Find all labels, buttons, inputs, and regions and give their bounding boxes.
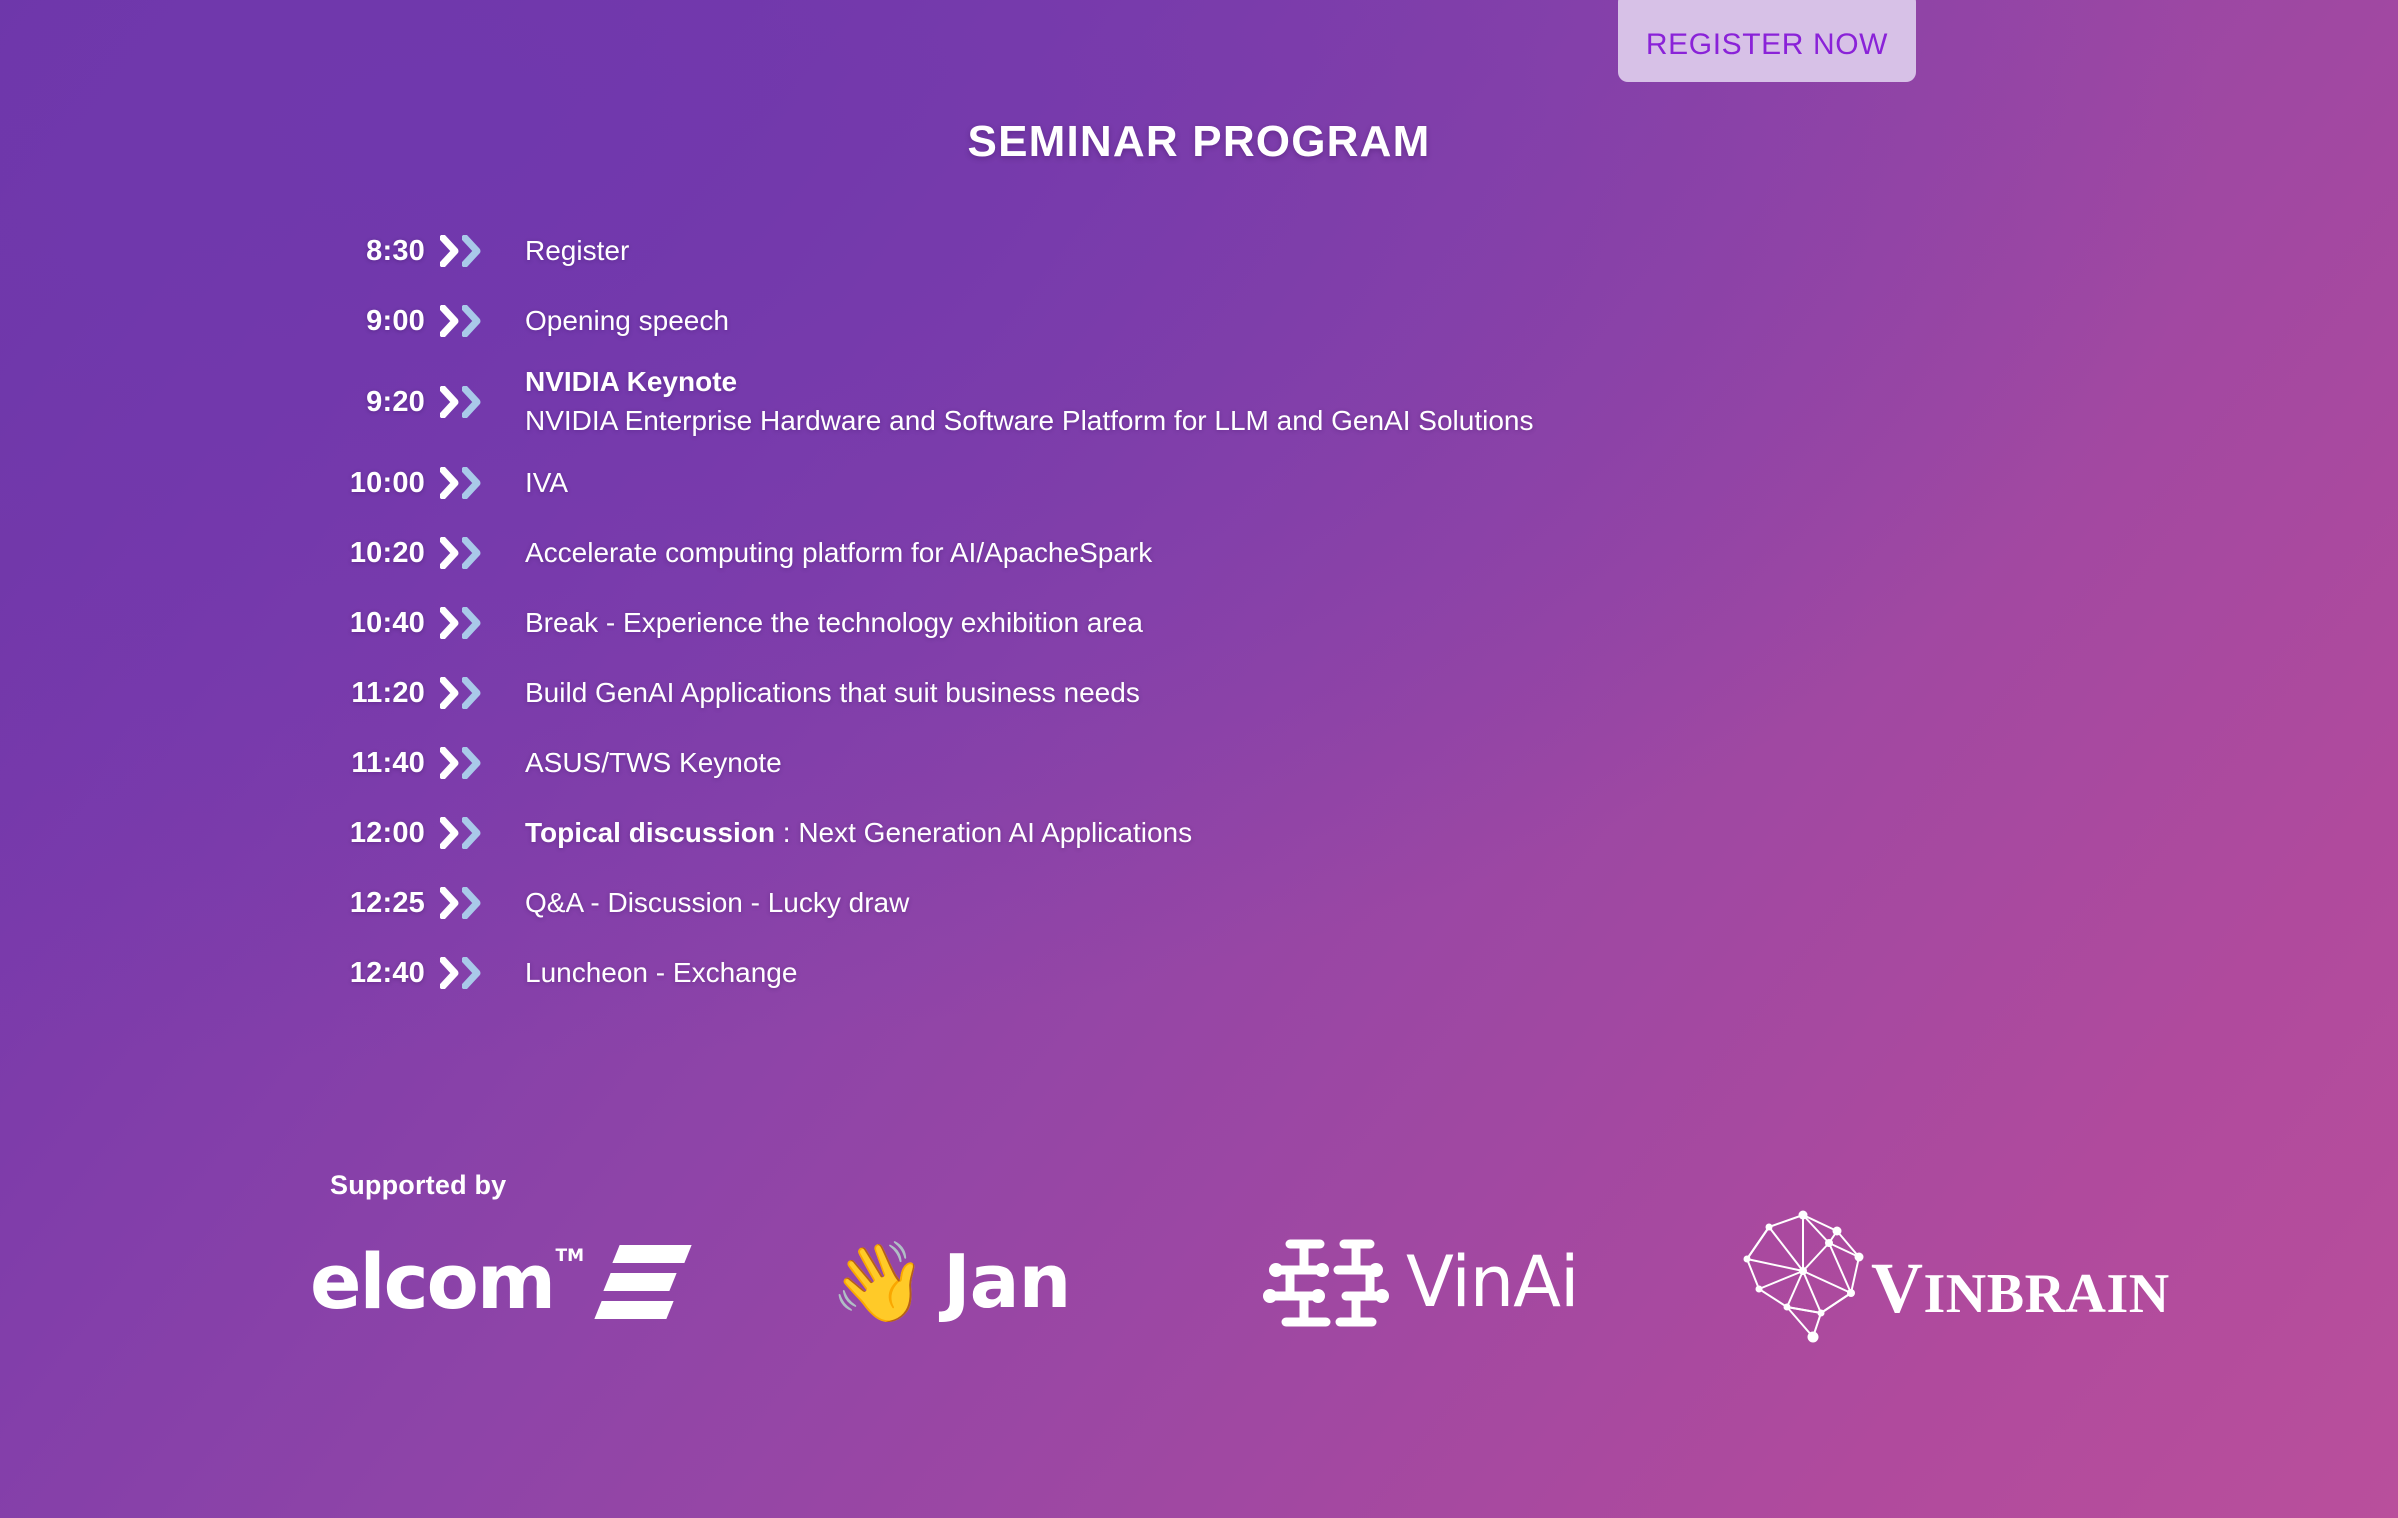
schedule-time: 12:00 <box>0 817 425 850</box>
elcom-wordmark: elcomTM <box>310 1244 554 1320</box>
schedule-item-subtitle: NVIDIA Enterprise Hardware and Software … <box>525 402 2398 441</box>
schedule-item-text: Accelerate computing platform for AI/Apa… <box>525 534 2398 573</box>
waving-hand-icon: 👋 <box>830 1243 927 1321</box>
register-now-button[interactable]: REGISTER NOW <box>1618 0 1916 82</box>
schedule-item-lead: Topical discussion <box>525 817 775 848</box>
double-chevron-right-icon <box>425 607 525 639</box>
double-chevron-right-icon <box>425 386 525 418</box>
schedule-time: 11:20 <box>0 677 425 710</box>
schedule-row: 12:40 Luncheon - Exchange <box>0 938 2398 1008</box>
double-chevron-right-icon <box>425 305 525 337</box>
schedule-time: 10:20 <box>0 537 425 570</box>
sponsor-logo-vinai[interactable]: VinAi <box>1260 1222 1579 1342</box>
schedule-item-text: IVA <box>525 464 2398 503</box>
schedule-row: 11:20 Build GenAI Applications that suit… <box>0 658 2398 728</box>
double-chevron-right-icon <box>425 957 525 989</box>
vinai-circuit-icon <box>1260 1226 1392 1338</box>
schedule-time: 12:40 <box>0 957 425 990</box>
schedule-item-rest: : Next Generation AI Applications <box>775 817 1192 848</box>
schedule-item-text: Q&A - Discussion - Lucky draw <box>525 884 2398 923</box>
schedule-time: 8:30 <box>0 235 425 268</box>
schedule-item-text: Register <box>525 232 2398 271</box>
sponsor-logo-row: elcomTM 👋 Jan <box>300 1222 2200 1362</box>
schedule-time: 10:00 <box>0 467 425 500</box>
vinbrain-word-rest: INBRAIN <box>1924 1263 2170 1325</box>
schedule-time: 12:25 <box>0 887 425 920</box>
schedule-item-text: ASUS/TWS Keynote <box>525 744 2398 783</box>
schedule-item-text: Build GenAI Applications that suit busin… <box>525 674 2398 713</box>
supported-by-label: Supported by <box>330 1170 506 1201</box>
double-chevron-right-icon <box>425 677 525 709</box>
double-chevron-right-icon <box>425 467 525 499</box>
double-chevron-right-icon <box>425 747 525 779</box>
schedule-item-text: NVIDIA Keynote NVIDIA Enterprise Hardwar… <box>525 363 2398 440</box>
elcom-e-mark-icon <box>598 1245 684 1319</box>
schedule-item-title: NVIDIA Keynote <box>525 363 2398 402</box>
schedule-row: 10:00 IVA <box>0 448 2398 518</box>
schedule-row: 11:40 ASUS/TWS Keynote <box>0 728 2398 798</box>
double-chevron-right-icon <box>425 887 525 919</box>
schedule-row: 12:25 Q&A - Discussion - Lucky draw <box>0 868 2398 938</box>
vinai-wordmark: VinAi <box>1406 1241 1579 1323</box>
schedule-row: 12:00 Topical discussion : Next Generati… <box>0 798 2398 868</box>
schedule-time: 9:20 <box>0 386 425 419</box>
schedule-time: 11:40 <box>0 747 425 780</box>
double-chevron-right-icon <box>425 235 525 267</box>
sponsor-logo-elcom[interactable]: elcomTM <box>310 1222 684 1342</box>
schedule-row: 10:40 Break - Experience the technology … <box>0 588 2398 658</box>
double-chevron-right-icon <box>425 817 525 849</box>
elcom-word-text: elcom <box>310 1237 554 1326</box>
schedule-item-text: Topical discussion : Next Generation AI … <box>525 814 2398 853</box>
schedule-time: 10:40 <box>0 607 425 640</box>
schedule-item-text: Opening speech <box>525 302 2398 341</box>
double-chevron-right-icon <box>425 537 525 569</box>
schedule-item-text: Luncheon - Exchange <box>525 954 2398 993</box>
schedule-row: 9:00 Opening speech <box>0 286 2398 356</box>
schedule-row: 8:30 Register <box>0 216 2398 286</box>
vinbrain-wordmark: VINBRAIN <box>1871 1247 2170 1330</box>
trademark-icon: TM <box>556 1248 585 1265</box>
schedule-row: 9:20 NVIDIA Keynote NVIDIA Enterprise Ha… <box>0 356 2398 448</box>
schedule-item-text: Break - Experience the technology exhibi… <box>525 604 2398 643</box>
page-title: SEMINAR PROGRAM <box>0 117 2398 167</box>
schedule-time: 9:00 <box>0 305 425 338</box>
jan-wordmark: Jan <box>943 1239 1070 1325</box>
seminar-schedule-list: 8:30 Register 9:00 Opening speech 9:20 N… <box>0 216 2398 1008</box>
sponsor-logo-vinbrain[interactable]: VINBRAIN <box>1725 1212 2170 1332</box>
sponsor-logo-jan[interactable]: 👋 Jan <box>830 1222 1070 1342</box>
schedule-row: 10:20 Accelerate computing platform for … <box>0 518 2398 588</box>
vinbrain-word-cap: V <box>1871 1248 1924 1328</box>
